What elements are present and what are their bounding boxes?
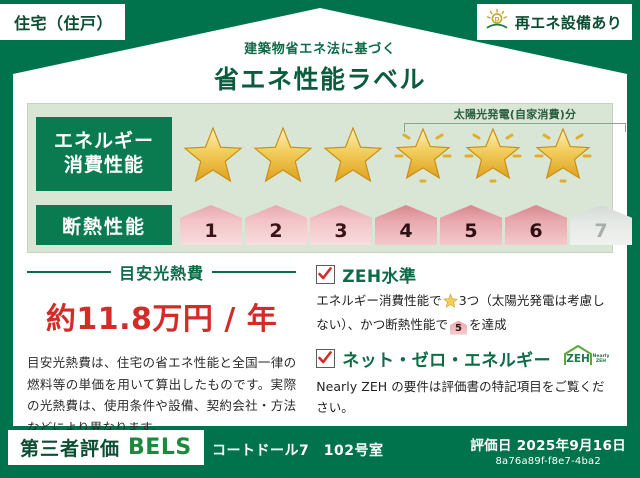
utility-cost-value: 約11.8万円 / 年	[27, 294, 296, 338]
insulation-level-5: 5	[440, 205, 502, 245]
sun-solar-icon: D	[484, 8, 510, 36]
bels-certification-tag: 第三者評価 BELS	[8, 430, 204, 465]
inline-insulation-badge-5: 5	[450, 321, 467, 335]
svg-text:D: D	[494, 16, 499, 23]
footer: 第三者評価 BELS コートドール7 102号室 評価日 2025年9月16日 …	[0, 426, 640, 478]
energy-performance-row: エネルギー 消費性能	[28, 110, 612, 198]
title-block: 建築物省エネ法に基づく 省エネ性能ラベル	[0, 38, 640, 96]
insulation-level-7: 7	[570, 205, 632, 245]
check-item-zeh-standard: ZEH水準 エネルギー消費性能で3つ（太陽光発電は考慮しない）、かつ断熱性能で5…	[316, 262, 613, 335]
checkbox-checked-icon	[316, 265, 335, 284]
insulation-level-scale: 1 2 3 4 5 6 7	[172, 202, 632, 248]
utility-cost-heading: 目安光熱費	[27, 260, 296, 284]
energy-label-line1: エネルギー	[54, 130, 154, 154]
insulation-level-6: 6	[505, 205, 567, 245]
energy-label-line2: 消費性能	[64, 154, 144, 178]
star-3	[318, 117, 388, 191]
svg-text:ZEH: ZEH	[596, 358, 606, 364]
insulation-level-2: 2	[245, 205, 307, 245]
insulation-performance-row: 断熱性能 1 2 3 4 5 6 7	[28, 202, 612, 248]
zeh-standard-head: ZEH水準	[316, 262, 613, 287]
performance-panel: エネルギー 消費性能	[27, 103, 613, 253]
net-zero-energy-head: ネット・ゼロ・エネルギー ZEH Nearly ZEH	[316, 343, 613, 373]
bels-tag-jp-label: 第三者評価	[20, 434, 120, 461]
lower-content-area: 目安光熱費 約11.8万円 / 年 目安光熱費は、住宅の省エネ性能と全国一律の燃…	[27, 258, 613, 416]
star-4-solar	[388, 117, 458, 191]
heading-rule-left	[27, 271, 111, 273]
star-6-solar	[528, 117, 598, 191]
net-zero-energy-body: Nearly ZEH の要件は評価書の特記項目をご覧ください。	[316, 377, 613, 418]
energy-performance-label: エネルギー 消費性能	[36, 117, 172, 191]
inline-star-icon	[443, 296, 458, 311]
bels-logo-text: BELS	[128, 435, 192, 460]
zeh-house-logo-icon: ZEH Nearly ZEH	[561, 343, 613, 373]
evaluation-info: 評価日 2025年9月16日 8a76a89f-f8e7-4ba2	[470, 434, 626, 467]
zeh-body-part3: を達成	[469, 317, 507, 332]
energy-star-rating	[172, 110, 612, 198]
star-1	[178, 117, 248, 191]
svg-text:ZEH: ZEH	[566, 353, 590, 365]
insulation-level-4: 4	[375, 205, 437, 245]
star-2	[248, 117, 318, 191]
net-zero-energy-title: ネット・ゼロ・エネルギー	[342, 346, 551, 371]
star-5-solar	[458, 117, 528, 191]
check-item-net-zero-energy: ネット・ゼロ・エネルギー ZEH Nearly ZEH Nearly ZEH の…	[316, 343, 613, 418]
heading-rule-right	[212, 271, 296, 273]
insulation-level-3: 3	[310, 205, 372, 245]
page-title: 省エネ性能ラベル	[0, 60, 640, 96]
utility-cost-column: 目安光熱費 約11.8万円 / 年 目安光熱費は、住宅の省エネ性能と全国一律の燃…	[27, 258, 304, 416]
renewable-energy-badge: D 再エネ設備あり	[477, 4, 632, 40]
title-subtitle: 建築物省エネ法に基づく	[0, 38, 640, 57]
zeh-standard-body: エネルギー消費性能で3つ（太陽光発電は考慮しない）、かつ断熱性能で5を達成	[316, 291, 613, 335]
evaluation-hash: 8a76a89f-f8e7-4ba2	[470, 456, 626, 467]
zeh-body-part1: エネルギー消費性能で	[316, 293, 442, 308]
utility-cost-heading-label: 目安光熱費	[119, 260, 204, 284]
evaluation-date: 評価日 2025年9月16日	[470, 434, 626, 454]
zeh-standard-title: ZEH水準	[342, 262, 416, 287]
checkbox-checked-icon-2	[316, 349, 335, 368]
housing-type-tag: 住宅（住戸）	[0, 4, 125, 40]
property-name: コートドール7 102号室	[212, 440, 383, 460]
insulation-performance-label: 断熱性能	[36, 205, 172, 245]
energy-label-card: 住宅（住戸） D 再エネ設備あり 建築物省エネ法に基づく 省エネ性能ラベル	[0, 0, 640, 478]
certification-column: ZEH水準 エネルギー消費性能で3つ（太陽光発電は考慮しない）、かつ断熱性能で5…	[304, 258, 613, 416]
renewable-badge-label: 再エネ設備あり	[515, 12, 622, 33]
insulation-level-1: 1	[180, 205, 242, 245]
